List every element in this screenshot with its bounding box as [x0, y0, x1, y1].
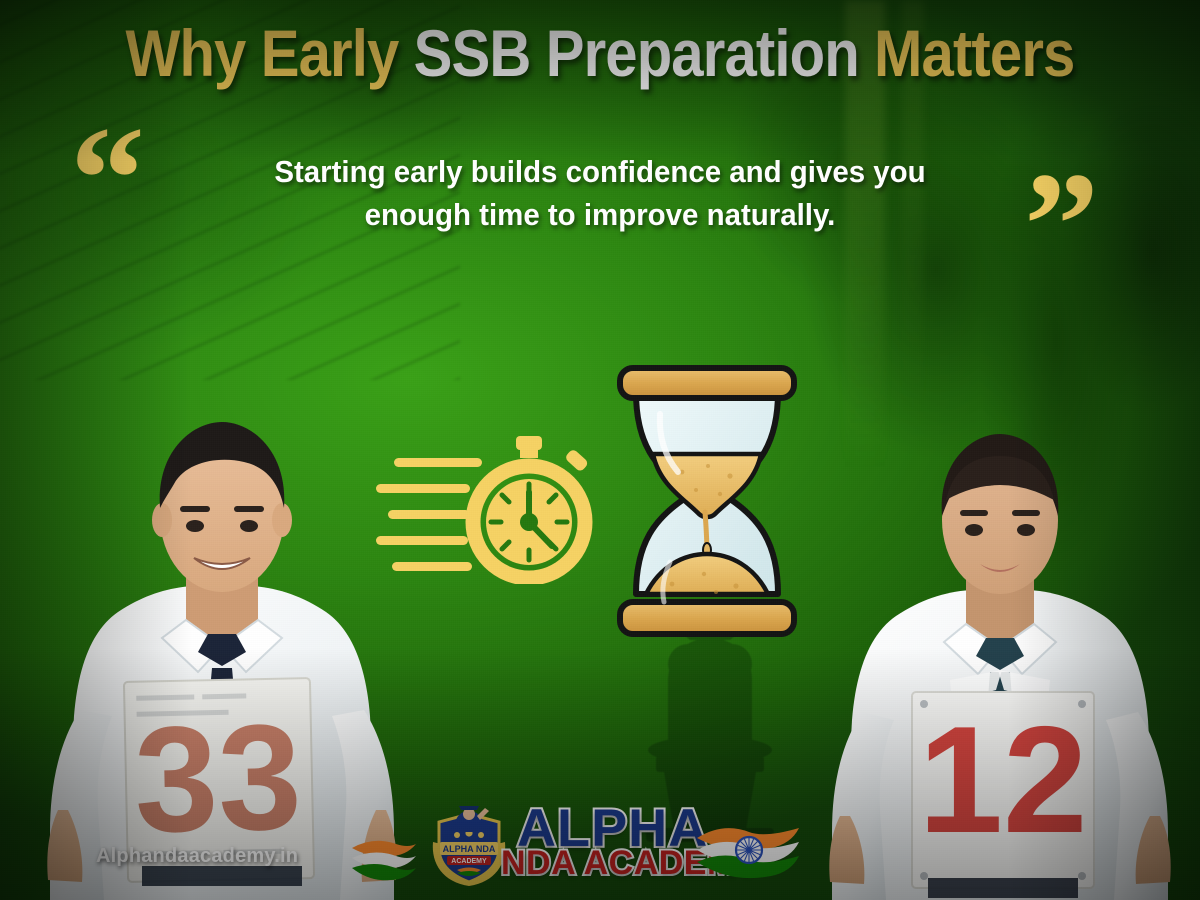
alpha-nda-badge-icon: ALPHA NDA ACADEMY: [425, 802, 513, 890]
title-part-3: Matters: [874, 16, 1074, 90]
badge-line-2: ACADEMY: [451, 858, 487, 865]
candidate-right-photo: 12: [800, 380, 1200, 900]
brand-logo[interactable]: ALPHA NDA ACADEMY ALPHA NDA ACADEMY: [425, 800, 785, 892]
quote-text: Starting early builds confidence and giv…: [192, 150, 1009, 236]
website-url[interactable]: Alphandaacademy.in: [96, 845, 298, 868]
title-part-1: Why Early: [126, 16, 414, 90]
chest-number-right: 12: [918, 695, 1087, 865]
poster: Why Early SSB Preparation Matters “ ” St…: [0, 0, 1200, 900]
title-part-2: SSB Preparation: [414, 16, 874, 90]
quote-close-mark: ”: [1024, 150, 1099, 300]
indian-flag-small-icon: [348, 832, 420, 884]
quote-line-1: Starting early builds confidence and giv…: [192, 150, 1009, 193]
badge-line-1: ALPHA NDA: [443, 844, 496, 854]
chest-number-left: 33: [133, 692, 303, 863]
hourglass-icon: [612, 362, 802, 642]
quote-open-mark: “: [70, 104, 145, 254]
page-title: Why Early SSB Preparation Matters: [72, 14, 1128, 92]
quote-line-2: enough time to improve naturally.: [192, 193, 1009, 236]
candidate-left-photo: 33: [22, 380, 422, 900]
indian-flag-icon: [693, 818, 803, 882]
